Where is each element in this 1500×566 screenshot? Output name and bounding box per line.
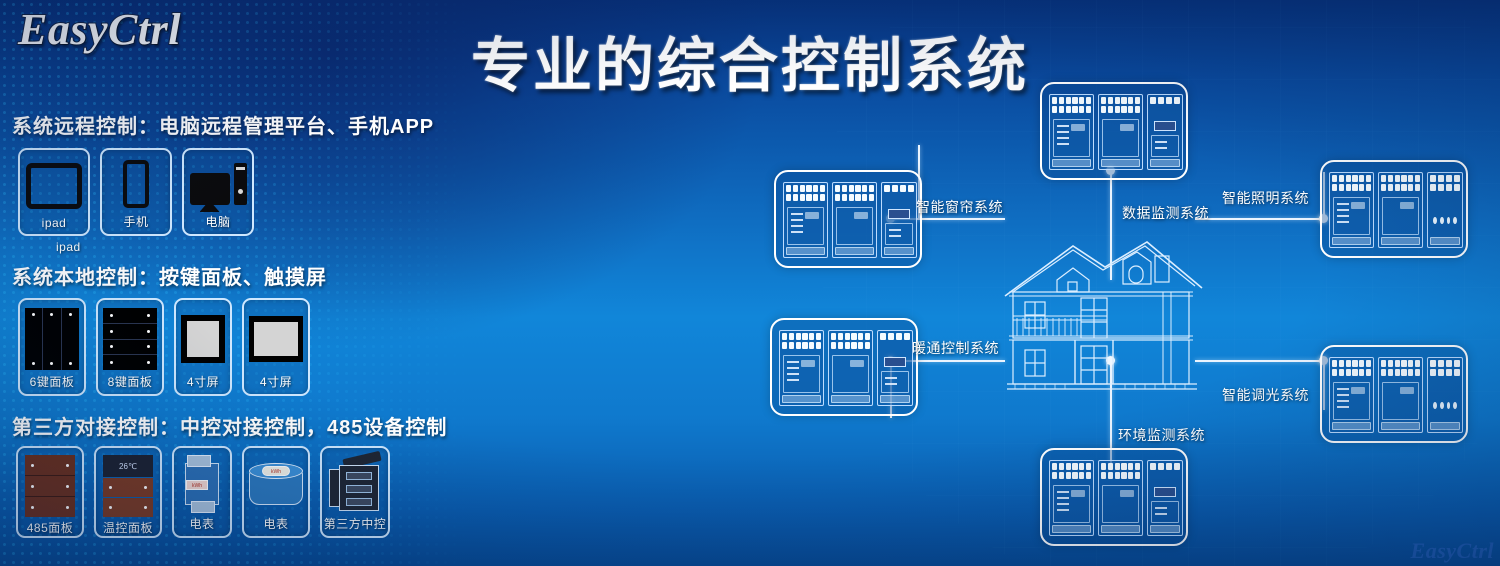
device-card-thermostat-panel[interactable]: 26℃ 温控面板 xyxy=(94,446,162,538)
third-party-controller-icon xyxy=(326,455,384,513)
brand-watermark: EasyCtrl xyxy=(1411,538,1494,564)
link-lighting-to-house xyxy=(1195,218,1325,220)
device-card-4inch-screen-a[interactable]: 4寸屏 xyxy=(174,298,232,396)
device-card-ipad[interactable]: ipad xyxy=(18,148,90,236)
thermostat-temperature-readout: 26℃ xyxy=(103,455,153,477)
device-card-label: 4寸屏 xyxy=(260,371,292,390)
ipad-caption-overflow: ipad xyxy=(56,240,81,254)
device-card-label: 电表 xyxy=(263,513,288,532)
electricity-meter-icon: kWh xyxy=(178,455,226,513)
link-dimming-to-house xyxy=(1195,360,1325,362)
round-electricity-meter-icon: kWh xyxy=(248,455,304,513)
device-card-label: 8键面板 xyxy=(108,371,153,390)
module-box-data-monitor[interactable] xyxy=(1040,82,1188,180)
section-heading-local-control: 系统本地控制：按键面板、触摸屏 xyxy=(12,261,327,290)
tablet-icon xyxy=(24,157,84,214)
diagram-label-environment: 环境监测系统 xyxy=(1118,425,1205,445)
eight-key-panel-icon xyxy=(102,307,158,371)
thermostat-panel-icon: 26℃ xyxy=(100,455,156,517)
module-box-curtain[interactable] xyxy=(774,170,922,268)
device-card-label: 4寸屏 xyxy=(187,371,219,390)
device-card-485-panel[interactable]: 485面板 xyxy=(16,446,84,538)
card-row-third-party: 485面板 26℃ 温控面板 kWh 电表 kWh xyxy=(16,446,390,538)
house-illustration xyxy=(995,240,1210,395)
diagram-label-hvac: 暖通控制系统 xyxy=(912,338,999,358)
six-key-panel-icon xyxy=(24,307,80,371)
module-box-dimming[interactable] xyxy=(1320,345,1468,443)
four-inch-screen-icon xyxy=(180,307,226,371)
device-card-label: 手机 xyxy=(123,211,148,230)
device-card-8key-panel[interactable]: 8键面板 xyxy=(96,298,164,396)
device-card-phone[interactable]: 手机 xyxy=(100,148,172,236)
rs485-panel-icon xyxy=(22,455,78,517)
four-inch-screen-wide-icon xyxy=(248,307,304,371)
card-row-remote-control: ipad 手机 电脑 xyxy=(18,148,254,236)
device-card-label: 电表 xyxy=(189,513,214,532)
section-heading-remote-control: 系统远程控制：电脑远程管理平台、手机APP xyxy=(12,110,434,139)
device-card-label: 电脑 xyxy=(205,211,230,230)
card-row-local-control: 6键面板 8键面板 4寸屏 4寸屏 xyxy=(18,298,310,396)
device-card-meter-round[interactable]: kWh 电表 xyxy=(242,446,310,538)
module-box-environment[interactable] xyxy=(1040,448,1188,546)
diagram-label-data-monitor: 数据监测系统 xyxy=(1122,203,1209,223)
diagram-label-curtain: 智能窗帘系统 xyxy=(916,197,1003,217)
section-heading-third-party: 第三方对接控制：中控对接控制，485设备控制 xyxy=(12,411,447,440)
device-card-meter-din[interactable]: kWh 电表 xyxy=(172,446,232,538)
device-card-label: 第三方中控 xyxy=(324,513,387,532)
meter-unit-label: kWh xyxy=(262,466,290,476)
module-box-lighting[interactable] xyxy=(1320,160,1468,258)
brand-logo: EasyCtrl xyxy=(18,4,181,55)
meter-unit-label: kWh xyxy=(186,480,208,490)
device-card-label: ipad xyxy=(42,214,67,230)
device-card-6key-panel[interactable]: 6键面板 xyxy=(18,298,86,396)
device-card-label: 温控面板 xyxy=(103,517,153,536)
device-card-4inch-screen-b[interactable]: 4寸屏 xyxy=(242,298,310,396)
diagram-label-dimming: 智能调光系统 xyxy=(1222,385,1309,405)
device-card-computer[interactable]: 电脑 xyxy=(182,148,254,236)
system-topology-diagram: 智能窗帘系统 数据监测系统 xyxy=(740,60,1500,566)
desktop-computer-icon xyxy=(188,157,248,211)
smartphone-icon xyxy=(106,157,166,211)
device-card-third-party-controller[interactable]: 第三方中控 xyxy=(320,446,390,538)
device-card-label: 485面板 xyxy=(27,517,74,536)
module-box-hvac[interactable] xyxy=(770,318,918,416)
device-card-label: 6键面板 xyxy=(30,371,75,390)
diagram-label-lighting: 智能照明系统 xyxy=(1222,188,1309,208)
poster-canvas: EasyCtrl 专业的综合控制系统 系统远程控制：电脑远程管理平台、手机APP… xyxy=(0,0,1500,566)
